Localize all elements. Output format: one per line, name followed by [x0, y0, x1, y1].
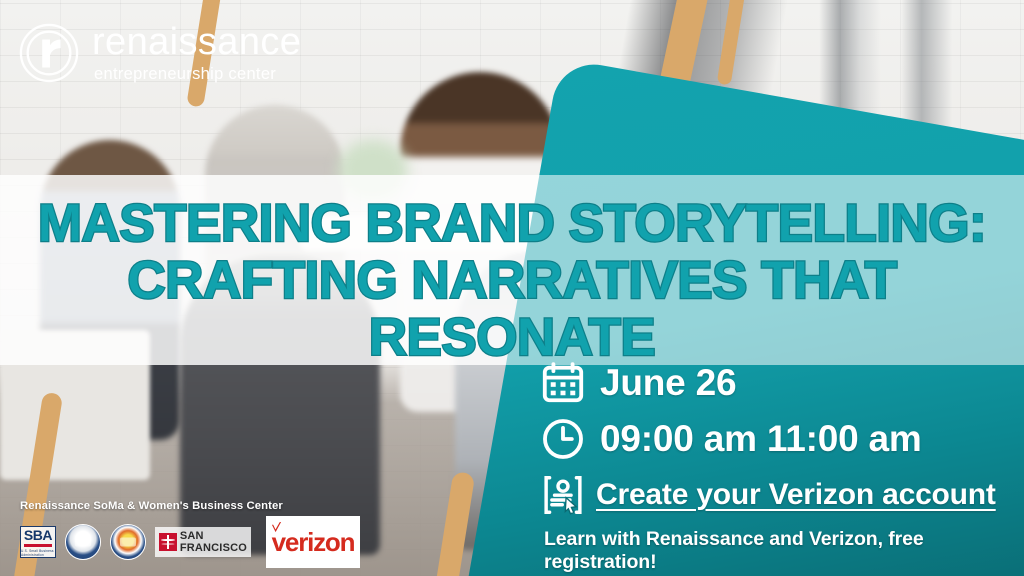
event-time-row: 09:00 am 11:00 am — [540, 416, 1010, 462]
event-promo-poster: renaissance entrepreneurship center MAST… — [0, 0, 1024, 576]
sba-logo-bar — [24, 544, 52, 547]
partner-logo-row: SBA U.S. Small Business Administration S… — [20, 516, 360, 568]
event-date-row: June 26 — [540, 360, 1010, 406]
sba-logo: SBA U.S. Small Business Administration — [20, 526, 56, 558]
logo-subtitle-text: entrepreneurship center — [94, 66, 301, 83]
logo-name-text: renaissance — [92, 23, 301, 61]
event-tagline: Learn with Renaissance and Verizon, free… — [544, 528, 1010, 574]
clock-icon — [540, 416, 586, 462]
create-verizon-account-link[interactable]: Create your Verizon account — [596, 478, 996, 512]
page-title: MASTERING BRAND STORYTELLING: CRAFTING N… — [0, 195, 1024, 367]
registration-link-row[interactable]: Create your Verizon account — [540, 472, 1010, 518]
event-details: June 26 09:00 am 11:00 am Create your Ve… — [540, 360, 1010, 574]
sba-logo-text: SBA — [24, 528, 52, 542]
partners-title: Renaissance SoMa & Women's Business Cent… — [20, 500, 360, 512]
headline-line-1: MASTERING BRAND STORYTELLING: — [0, 195, 1024, 252]
partner-logos: Renaissance SoMa & Women's Business Cent… — [20, 500, 360, 568]
calendar-icon — [540, 360, 586, 406]
verizon-logo-text: verizon — [272, 529, 355, 555]
seal-badge-one — [65, 524, 101, 560]
registration-card-cursor-icon — [540, 472, 586, 518]
seal-badge-two — [110, 524, 146, 560]
sba-logo-fine-print: U.S. Small Business Administration — [21, 549, 55, 557]
san-francisco-logo-text: SAN FRANCISCO — [180, 530, 247, 554]
verizon-check-icon — [271, 522, 282, 533]
event-date-label: June 26 — [600, 362, 736, 404]
headline-line-2: CRAFTING NARRATIVES THAT RESONATE — [0, 252, 1024, 366]
renaissance-circle-r-icon — [18, 22, 80, 84]
verizon-logo: verizon — [266, 516, 360, 568]
renaissance-logo: renaissance entrepreneurship center — [18, 22, 301, 84]
san-francisco-logo: SAN FRANCISCO — [155, 527, 251, 557]
event-time-label: 09:00 am 11:00 am — [600, 418, 922, 460]
golden-gate-bridge-icon — [159, 533, 177, 551]
